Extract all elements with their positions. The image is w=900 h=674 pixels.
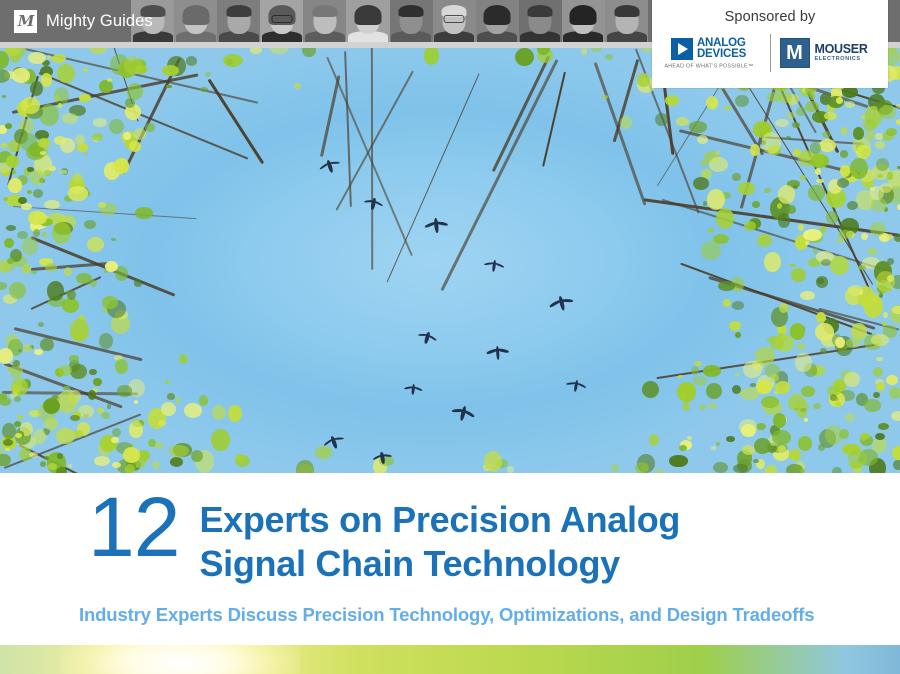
expert-headshot-strip (131, 0, 649, 42)
canopy-leaf (678, 375, 683, 378)
canopy-leaf (875, 141, 885, 149)
adi-tagline: AHEAD OF WHAT'S POSSIBLE™ (664, 62, 753, 69)
canopy-leaf (635, 462, 649, 473)
mouser-subwordmark: ELECTRONICS (815, 57, 868, 63)
bird-silhouette (486, 343, 510, 356)
canopy-leaf (871, 334, 889, 346)
canopy-leaf (60, 170, 66, 174)
canopy-leaf (48, 463, 58, 470)
canopy-leaf (515, 48, 534, 66)
tree-branch (543, 72, 567, 167)
canopy-leaf (79, 94, 91, 102)
canopy-leaf (846, 338, 860, 349)
canopy-leaf (708, 228, 714, 233)
canopy-leaf (887, 172, 894, 180)
canopy-leaf (808, 185, 825, 200)
canopy-leaf (60, 138, 74, 153)
canopy-leaf (796, 107, 806, 117)
canopy-leaf (694, 361, 701, 366)
canopy-leaf (679, 445, 687, 451)
canopy-leaf (107, 404, 111, 409)
canopy-leaf (12, 170, 16, 174)
canopy-leaf (786, 136, 791, 140)
sun-flare-highlight (60, 645, 300, 674)
canopy-leaf (709, 157, 728, 173)
canopy-leaf (169, 445, 189, 458)
canopy-leaf (38, 138, 50, 149)
canopy-leaf (879, 105, 896, 119)
canopy-leaf (815, 168, 821, 175)
canopy-leaf (892, 306, 900, 315)
canopy-leaf (886, 375, 897, 385)
canopy-leaf (5, 448, 10, 451)
canopy-leaf (830, 256, 849, 275)
canopy-leaf (894, 234, 900, 241)
canopy-leaf (200, 87, 208, 92)
canopy-leaf (138, 450, 150, 461)
analog-devices-logo[interactable]: ANALOG DEVICES AHEAD OF WHAT'S POSSIBLE™ (657, 38, 761, 69)
canopy-leaf (700, 160, 708, 166)
expert-headshot (433, 0, 476, 42)
canopy-leaf (620, 116, 632, 129)
canopy-leaf (18, 349, 22, 352)
canopy-leaf (161, 402, 176, 416)
tree-branch (320, 76, 341, 158)
hero-image-birds-forest (0, 48, 900, 473)
canopy-leaf (44, 418, 58, 429)
canopy-leaf (713, 462, 728, 473)
mighty-guides-logo-icon: M (14, 10, 37, 33)
expert-headshot (174, 0, 217, 42)
sponsored-by-label: Sponsored by (652, 0, 888, 25)
canopy-leaf (132, 419, 145, 427)
canopy-leaf (779, 303, 788, 313)
canopy-leaf (68, 464, 73, 468)
canopy-leaf (15, 433, 22, 437)
canopy-leaf (62, 113, 77, 123)
expert-headshot (605, 0, 648, 42)
canopy-leaf (701, 241, 720, 260)
canopy-leaf (23, 344, 32, 352)
canopy-leaf (875, 433, 885, 440)
canopy-leaf (20, 133, 37, 151)
canopy-leaf (507, 466, 515, 472)
canopy-leaf (99, 333, 113, 349)
canopy-leaf (165, 381, 170, 385)
canopy-leaf (777, 203, 782, 209)
canopy-leaf (840, 165, 850, 176)
canopy-leaf (752, 201, 760, 207)
canopy-leaf (269, 48, 289, 54)
canopy-leaf (52, 54, 66, 64)
canopy-leaf (859, 290, 863, 295)
canopy-leaf (790, 264, 796, 268)
canopy-leaf (798, 224, 805, 231)
canopy-leaf (14, 396, 21, 401)
canopy-leaf (770, 336, 783, 349)
canopy-leaf (655, 113, 668, 126)
canopy-leaf (93, 118, 107, 127)
canopy-leaf (865, 130, 876, 142)
canopy-leaf (896, 104, 900, 108)
canopy-leaf (837, 178, 849, 188)
forest-canopy-foliage (0, 48, 900, 473)
canopy-leaf (699, 404, 707, 410)
canopy-leaf (41, 73, 52, 86)
canopy-leaf (876, 271, 895, 293)
canopy-leaf (804, 418, 808, 422)
canopy-leaf (611, 464, 619, 472)
canopy-leaf (863, 119, 877, 131)
canopy-leaf (84, 220, 96, 229)
canopy-leaf (878, 423, 889, 430)
canopy-leaf (0, 393, 7, 400)
canopy-leaf (773, 413, 786, 428)
tree-branch (492, 55, 550, 171)
canopy-leaf (4, 238, 15, 249)
mouser-m-icon: M (780, 38, 810, 68)
canopy-leaf (155, 442, 163, 449)
canopy-leaf (13, 360, 20, 367)
tree-branch (440, 59, 558, 291)
canopy-leaf (800, 291, 814, 300)
analog-devices-triangle-icon (671, 38, 693, 60)
canopy-leaf (5, 123, 12, 129)
canopy-leaf (715, 151, 720, 155)
canopy-leaf (17, 415, 23, 420)
canopy-leaf (63, 386, 69, 390)
canopy-leaf (102, 296, 118, 309)
cover-title: Experts on Precision Analog Signal Chain… (199, 491, 680, 585)
canopy-leaf (64, 267, 72, 276)
canopy-leaf (764, 188, 770, 193)
canopy-leaf (697, 135, 709, 145)
canopy-leaf (167, 393, 175, 401)
ebook-cover-page: M Mighty Guides Sponsored by ANALOG DEVI… (0, 0, 900, 674)
canopy-leaf (778, 445, 786, 454)
canopy-leaf (179, 354, 188, 364)
canopy-leaf (29, 452, 38, 459)
mouser-electronics-logo[interactable]: M MOUSER ELECTRONICS (780, 38, 884, 68)
canopy-leaf (135, 207, 153, 219)
expert-headshot (562, 0, 605, 42)
canopy-leaf (70, 415, 80, 422)
canopy-leaf (228, 405, 242, 422)
canopy-leaf (691, 366, 699, 375)
canopy-leaf (839, 429, 849, 439)
canopy-leaf (22, 264, 31, 274)
canopy-leaf (756, 380, 772, 394)
canopy-leaf (687, 436, 692, 439)
canopy-leaf (39, 104, 59, 126)
canopy-leaf (709, 99, 718, 110)
canopy-leaf (886, 128, 897, 136)
brand-name-label: Mighty Guides (46, 12, 153, 31)
canopy-leaf (6, 225, 16, 231)
canopy-leaf (708, 403, 717, 409)
canopy-leaf (123, 447, 140, 463)
expert-headshot (217, 0, 260, 42)
canopy-leaf (864, 399, 880, 411)
tree-branch (371, 48, 373, 270)
canopy-leaf (97, 408, 103, 413)
canopy-leaf (176, 398, 181, 403)
canopy-leaf (738, 182, 755, 195)
canopy-leaf (716, 208, 734, 229)
canopy-leaf (158, 420, 166, 426)
canopy-leaf (787, 112, 795, 119)
tree-branch (387, 74, 480, 283)
expert-headshot (519, 0, 562, 42)
canopy-leaf (9, 282, 26, 300)
canopy-leaf (822, 131, 831, 138)
canopy-leaf (739, 419, 757, 435)
canopy-leaf (818, 444, 826, 452)
canopy-leaf (729, 321, 741, 331)
adi-wordmark-line2: DEVICES (697, 49, 746, 60)
canopy-leaf (125, 464, 136, 473)
canopy-leaf (791, 268, 806, 283)
canopy-leaf (820, 348, 827, 354)
canopy-leaf (680, 393, 685, 398)
canopy-leaf (250, 48, 262, 54)
canopy-leaf (115, 359, 127, 373)
canopy-leaf (840, 150, 848, 157)
canopy-leaf (68, 186, 88, 200)
canopy-leaf (756, 423, 765, 430)
canopy-leaf (876, 357, 883, 361)
canopy-leaf (726, 436, 735, 442)
canopy-leaf (605, 54, 613, 60)
canopy-leaf (847, 201, 858, 210)
canopy-leaf (889, 387, 900, 399)
canopy-leaf (56, 428, 75, 444)
canopy-leaf (798, 436, 812, 450)
canopy-leaf (772, 430, 790, 445)
canopy-leaf (642, 381, 659, 398)
canopy-leaf (186, 56, 197, 66)
canopy-leaf (18, 197, 27, 204)
canopy-leaf (669, 455, 687, 466)
canopy-leaf (775, 119, 789, 127)
canopy-leaf (732, 173, 741, 182)
canopy-leaf (302, 48, 316, 57)
canopy-leaf (764, 252, 781, 272)
canopy-leaf (735, 332, 742, 338)
canopy-leaf (0, 282, 7, 290)
canopy-leaf (294, 83, 301, 90)
canopy-leaf (89, 369, 97, 376)
canopy-leaf (84, 153, 88, 156)
canopy-leaf (844, 372, 860, 388)
canopy-leaf (33, 429, 47, 444)
canopy-leaf (861, 233, 868, 240)
canopy-leaf (28, 211, 47, 226)
canopy-leaf (134, 279, 143, 286)
canopy-leaf (682, 402, 690, 411)
canopy-leaf (199, 395, 208, 406)
canopy-leaf (877, 174, 883, 178)
canopy-leaf (170, 457, 183, 467)
canopy-leaf (58, 103, 63, 108)
canopy-leaf (800, 408, 807, 412)
canopy-leaf (801, 386, 815, 397)
canopy-leaf (38, 322, 44, 327)
canopy-leaf (129, 141, 141, 152)
canopy-leaf (735, 95, 749, 107)
footer-image-strip (0, 645, 900, 674)
canopy-leaf (765, 465, 777, 473)
canopy-leaf (134, 400, 138, 404)
canopy-leaf (897, 204, 900, 210)
canopy-leaf (677, 382, 696, 402)
canopy-leaf (711, 446, 717, 450)
canopy-leaf (94, 456, 110, 466)
bird-silhouette (404, 381, 424, 392)
canopy-leaf (44, 200, 60, 210)
canopy-leaf (744, 221, 756, 231)
canopy-leaf (22, 237, 38, 255)
canopy-leaf (853, 127, 864, 140)
canopy-leaf (723, 299, 731, 307)
canopy-leaf (98, 202, 106, 208)
canopy-leaf (649, 434, 659, 446)
canopy-leaf (12, 68, 30, 83)
canopy-leaf (850, 158, 868, 179)
canopy-leaf (2, 95, 6, 98)
canopy-leaf (6, 155, 19, 168)
canopy-leaf (40, 338, 54, 352)
canopy-leaf (424, 48, 440, 65)
canopy-leaf (810, 94, 815, 100)
canopy-leaf (1, 143, 8, 147)
canopy-leaf (33, 229, 40, 237)
experts-count-number: 12 (88, 491, 179, 565)
tree-branch (613, 59, 639, 142)
canopy-leaf (876, 382, 884, 391)
canopy-leaf (31, 270, 37, 274)
canopy-leaf (841, 127, 848, 135)
canopy-leaf (33, 189, 43, 198)
canopy-leaf (223, 54, 243, 67)
canopy-leaf (755, 347, 774, 365)
title-band: 12 Experts on Precision Analog Signal Ch… (0, 473, 900, 645)
cover-title-line2: Signal Chain Technology (199, 542, 680, 586)
brand-monogram: M (18, 14, 34, 29)
canopy-leaf (891, 411, 900, 421)
canopy-leaf (813, 152, 826, 166)
canopy-leaf (77, 143, 88, 151)
canopy-leaf (732, 385, 741, 394)
canopy-leaf (778, 213, 791, 228)
canopy-leaf (114, 158, 128, 174)
canopy-leaf (845, 101, 855, 109)
canopy-leaf (74, 430, 83, 438)
canopy-leaf (819, 139, 837, 152)
mouser-mark-letter: M (786, 43, 803, 63)
canopy-leaf (134, 128, 146, 140)
canopy-leaf (162, 65, 179, 76)
canopy-leaf (896, 119, 900, 124)
canopy-leaf (873, 367, 883, 377)
canopy-leaf (93, 378, 102, 386)
canopy-leaf (864, 295, 883, 318)
cover-subtitle: Industry Experts Discuss Precision Techn… (79, 604, 814, 626)
cover-title-row: 12 Experts on Precision Analog Signal Ch… (88, 491, 680, 585)
canopy-leaf (873, 392, 880, 398)
canopy-leaf (21, 203, 32, 210)
canopy-leaf (797, 344, 804, 350)
canopy-leaf (813, 403, 822, 409)
canopy-leaf (799, 152, 813, 161)
canopy-leaf (836, 97, 843, 104)
canopy-leaf (724, 106, 731, 110)
canopy-leaf (689, 121, 707, 133)
canopy-leaf (826, 211, 839, 224)
canopy-leaf (125, 98, 135, 109)
canopy-leaf (166, 85, 171, 88)
canopy-leaf (805, 241, 809, 245)
canopy-leaf (716, 442, 720, 446)
canopy-leaf (693, 376, 707, 386)
canopy-leaf (887, 234, 892, 239)
canopy-leaf (117, 385, 132, 396)
sponsor-logo-row: ANALOG DEVICES AHEAD OF WHAT'S POSSIBLE™… (652, 34, 888, 72)
canopy-leaf (795, 353, 812, 373)
canopy-leaf (296, 460, 314, 473)
canopy-leaf (47, 55, 51, 59)
canopy-leaf (816, 276, 828, 288)
canopy-leaf (892, 446, 900, 460)
canopy-leaf (124, 56, 142, 75)
mighty-guides-brand[interactable]: M Mighty Guides (14, 0, 153, 42)
canopy-leaf (27, 190, 32, 194)
canopy-leaf (732, 301, 745, 310)
canopy-leaf (813, 248, 818, 253)
canopy-leaf (484, 451, 502, 472)
canopy-leaf (838, 230, 852, 238)
canopy-leaf (893, 460, 900, 470)
sponsor-panel: Sponsored by ANALOG DEVICES AHEAD OF WHA… (652, 0, 888, 88)
canopy-leaf (787, 205, 796, 213)
mouser-wordmark: MOUSER (815, 43, 868, 56)
canopy-leaf (757, 234, 772, 247)
canopy-leaf (789, 449, 801, 461)
canopy-leaf (57, 391, 77, 413)
canopy-leaf (42, 232, 47, 237)
canopy-leaf (83, 68, 88, 72)
canopy-leaf (58, 365, 71, 376)
canopy-leaf (45, 263, 57, 272)
canopy-leaf (897, 166, 900, 170)
canopy-leaf (707, 189, 725, 210)
tree-branch (208, 79, 264, 164)
canopy-leaf (706, 383, 722, 399)
canopy-leaf (3, 197, 8, 201)
canopy-leaf (92, 133, 103, 141)
canopy-leaf (581, 48, 587, 55)
canopy-leaf (89, 48, 107, 54)
canopy-leaf (883, 312, 888, 317)
canopy-leaf (34, 349, 42, 355)
canopy-leaf (762, 132, 781, 154)
expert-headshot (346, 0, 389, 42)
cover-title-line1: Experts on Precision Analog (199, 498, 680, 542)
canopy-leaf (40, 461, 46, 467)
canopy-leaf (87, 237, 104, 252)
canopy-leaf (735, 373, 739, 377)
canopy-leaf (67, 290, 76, 300)
